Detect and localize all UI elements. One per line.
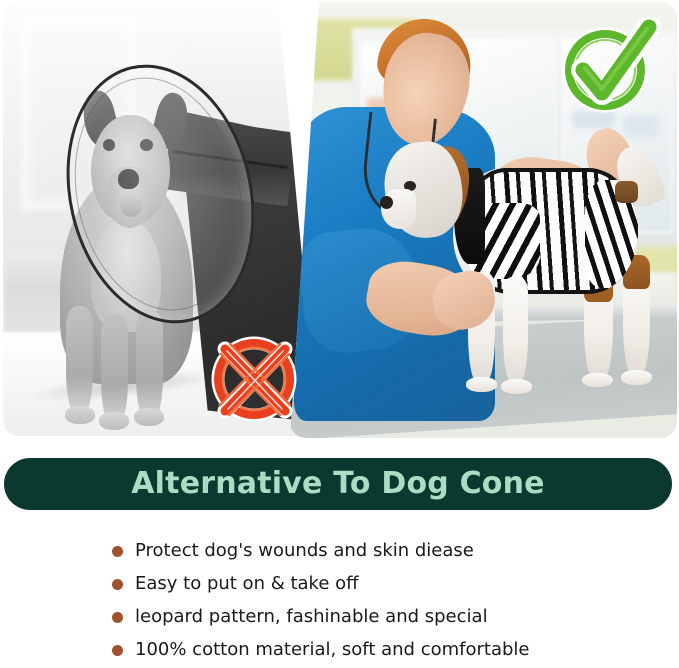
beagle-paw: [621, 370, 652, 385]
recovery-suit-leg-cuff: [615, 181, 638, 203]
feature-list-item: Protect dog's wounds and skin diease: [112, 536, 672, 566]
photo-comparison-row: [0, 0, 679, 445]
feature-text: Protect dog's wounds and skin diease: [135, 541, 474, 561]
dog-leg: [136, 310, 163, 419]
dog-paw: [99, 412, 129, 430]
title-banner: Alternative To Dog Cone: [4, 458, 672, 510]
feature-text: leopard pattern, fashinable and special: [135, 607, 488, 627]
green-check-icon: [561, 18, 662, 118]
dog-paw: [134, 408, 164, 426]
bullet-dot-icon: [112, 546, 123, 557]
feature-list-item: leopard pattern, fashinable and special: [112, 602, 672, 632]
shelf-supplies: [623, 115, 658, 137]
dog-paw: [65, 406, 95, 424]
feature-list-item: Easy to put on & take off: [112, 569, 672, 599]
bullet-dot-icon: [112, 612, 123, 623]
banner-title-text: Alternative To Dog Cone: [131, 469, 544, 499]
red-x-cross-icon: [208, 333, 300, 429]
beagle-paw: [466, 377, 497, 392]
product-infographic: Alternative To Dog Cone Protect dog's wo…: [0, 0, 679, 661]
bullet-dot-icon: [112, 579, 123, 590]
beagle-paw: [501, 379, 532, 394]
beagle-leg: [503, 277, 528, 382]
dog-leg: [101, 314, 128, 423]
feature-list: Protect dog's wounds and skin diease Eas…: [112, 536, 672, 668]
bullet-dot-icon: [112, 645, 123, 656]
feature-text: Easy to put on & take off: [135, 574, 359, 594]
dog-leg: [66, 306, 93, 415]
feature-text: 100% cotton material, soft and comfortab…: [135, 640, 529, 660]
beagle-paw: [582, 373, 613, 388]
